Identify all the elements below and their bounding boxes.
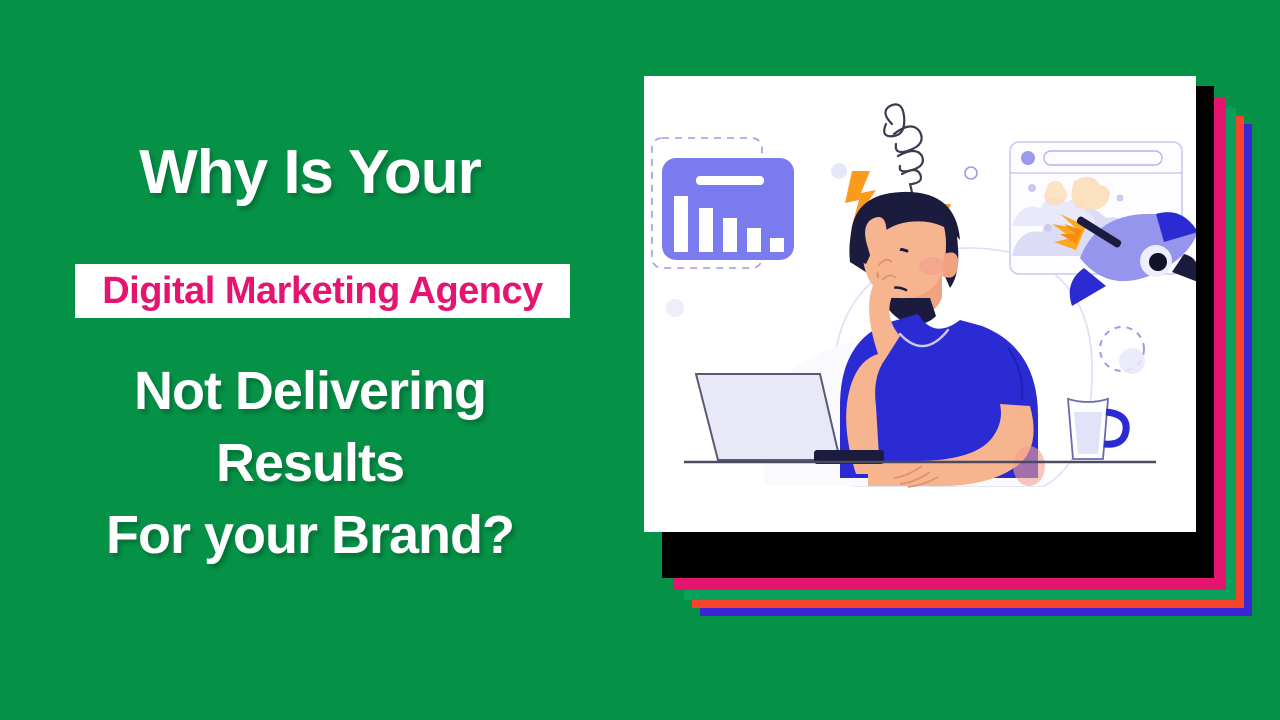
elbow-blush: [1013, 446, 1045, 486]
browser-dot: [1021, 151, 1035, 165]
headline-line-1: Not Delivering: [0, 356, 620, 428]
highlight-band: Digital Marketing Agency: [75, 264, 570, 318]
headline-block: Why Is Your Digital Marketing Agency Not…: [0, 0, 620, 720]
bar-chart-card: [662, 158, 794, 260]
headline-line-2: Results: [0, 428, 620, 500]
bar-4: [747, 228, 761, 252]
card-stack: [644, 76, 1244, 576]
ring-dot: [965, 167, 977, 179]
bar-5: [770, 238, 784, 252]
bar-2: [699, 208, 713, 252]
headline-line-3: For your Brand?: [0, 500, 620, 572]
dashed-circle: [1100, 327, 1145, 374]
highlight-text: Digital Marketing Agency: [102, 270, 543, 313]
dot-left: [666, 299, 684, 317]
bar-3: [723, 218, 737, 252]
bar-1: [674, 196, 688, 252]
laptop-screen: [696, 374, 840, 460]
headline-top: Why Is Your: [0, 140, 620, 205]
mug-liquid: [1074, 412, 1102, 454]
white-card: [644, 76, 1196, 532]
illustration: [644, 76, 1196, 532]
dot-top-left: [831, 163, 847, 179]
headline-bottom: Not Delivering Results For your Brand?: [0, 356, 620, 571]
blush: [919, 257, 945, 275]
coffee-mug: [1068, 399, 1126, 459]
